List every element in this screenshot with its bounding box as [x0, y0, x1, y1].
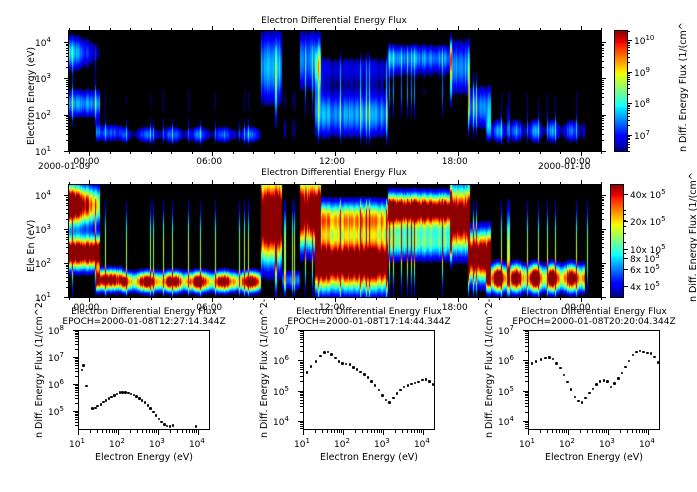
axis-tick [581, 297, 582, 302]
axis-tick [66, 234, 69, 235]
axis-tick [580, 430, 581, 433]
data-point [603, 379, 606, 382]
axis-tick [437, 151, 438, 154]
data-point [94, 407, 97, 410]
axis-tick [376, 151, 377, 154]
axis-tick [596, 430, 597, 433]
axis-tick [601, 97, 604, 98]
axis-tick [300, 331, 303, 332]
axis-tick [294, 151, 295, 154]
data-point [399, 389, 402, 392]
spectrum-3-ytick-label: 107 [498, 324, 514, 337]
mid-panel-title: Electron Differential Energy Flux [68, 168, 600, 178]
axis-tick [66, 268, 69, 269]
axis-tick [499, 297, 500, 300]
axis-tick [75, 363, 78, 364]
axis-tick [601, 86, 604, 87]
axis-tick [525, 351, 528, 352]
axis-tick [69, 28, 70, 31]
data-point [548, 356, 551, 359]
top-ytick-label: 102 [35, 109, 51, 122]
axis-tick [75, 414, 78, 415]
axis-tick [623, 214, 626, 215]
axis-tick [300, 395, 303, 396]
axis-tick [417, 182, 418, 185]
axis-tick [623, 286, 628, 287]
top-spectrogram-image [68, 30, 602, 152]
axis-tick [66, 67, 69, 68]
data-point [356, 368, 359, 371]
axis-tick [556, 430, 557, 433]
axis-tick [627, 57, 630, 58]
axis-tick [66, 93, 69, 94]
axis-tick [601, 56, 604, 57]
axis-tick [303, 430, 304, 435]
axis-tick [560, 182, 561, 185]
axis-tick [423, 430, 424, 435]
axis-tick [601, 237, 604, 238]
axis-tick [627, 105, 630, 106]
axis-tick [525, 335, 528, 336]
axis-tick [75, 361, 78, 362]
axis-tick [562, 430, 563, 433]
axis-tick [376, 297, 377, 300]
axis-tick [601, 213, 604, 214]
axis-tick [627, 106, 630, 107]
axis-tick [601, 123, 604, 124]
spectrum-1-ylabel: n Diff. Energy Flux (1/(cm^2- [34, 299, 45, 438]
axis-tick [75, 415, 78, 416]
axis-tick [75, 371, 78, 372]
data-point [617, 377, 620, 380]
axis-tick [75, 388, 78, 389]
axis-tick [419, 430, 420, 433]
spectrum-2-xlabel: Electron Energy (eV) [303, 452, 435, 463]
axis-tick [592, 430, 593, 433]
axis-tick [300, 392, 303, 393]
spectrum-3-xtick-label: 103 [599, 437, 615, 450]
spectrum-3-xtick-label: 101 [519, 437, 535, 450]
axis-tick [66, 116, 69, 117]
axis-tick [334, 430, 335, 433]
axis-tick [89, 151, 90, 156]
axis-tick [601, 297, 602, 300]
spectrum-1-xtick-label: 101 [69, 437, 85, 450]
axis-tick [396, 28, 397, 31]
axis-tick [300, 376, 303, 377]
axis-tick [402, 430, 403, 433]
axis-tick [75, 395, 78, 396]
axis-tick [331, 430, 332, 433]
axis-tick [75, 398, 78, 399]
axis-tick [69, 182, 70, 185]
axis-tick [66, 277, 69, 278]
axis-tick [66, 239, 69, 240]
axis-tick [66, 61, 69, 62]
axis-tick [355, 182, 356, 185]
axis-tick [192, 151, 193, 154]
axis-tick [130, 151, 131, 154]
axis-tick [233, 28, 234, 31]
axis-tick [627, 73, 630, 74]
axis-tick [414, 430, 415, 433]
axis-tick [66, 86, 69, 87]
axis-tick [395, 430, 396, 433]
axis-tick [383, 430, 384, 435]
axis-tick [75, 331, 78, 332]
axis-tick [75, 365, 78, 366]
data-point [147, 404, 150, 407]
axis-tick [66, 271, 69, 272]
data-point [306, 371, 309, 374]
axis-tick [355, 430, 356, 433]
spectrum-2-xtick-label: 101 [294, 437, 310, 450]
mid-colorbar-label: n Diff. Energy Flux (1/(cm^ [688, 172, 697, 302]
axis-tick [525, 369, 528, 370]
axis-tick [601, 61, 604, 62]
axis-tick [627, 43, 630, 44]
axis-tick [525, 394, 528, 395]
axis-tick [90, 430, 91, 433]
axis-tick [601, 45, 604, 46]
axis-tick [601, 48, 604, 49]
axis-tick [233, 151, 234, 154]
axis-tick [194, 430, 195, 433]
axis-tick [627, 79, 630, 80]
axis-tick [499, 151, 500, 154]
axis-tick [78, 430, 79, 435]
axis-tick [186, 430, 187, 433]
mid-ytick-label: 102 [35, 257, 51, 270]
spectrum-2-ytick-label: 105 [273, 385, 289, 398]
axis-tick [540, 151, 541, 154]
axis-tick [142, 430, 143, 433]
axis-tick [300, 406, 303, 407]
axis-tick [601, 118, 604, 119]
axis-tick [171, 28, 172, 31]
axis-tick [601, 268, 604, 269]
axis-tick [212, 151, 213, 156]
spectrum-3-ytick-label: 105 [498, 385, 514, 398]
axis-tick [66, 219, 69, 220]
axis-tick [525, 381, 528, 382]
axis-tick [233, 297, 234, 300]
axis-tick [568, 430, 569, 435]
data-point [544, 357, 547, 360]
axis-tick [66, 213, 69, 214]
axis-tick [300, 346, 303, 347]
axis-tick [525, 412, 528, 413]
data-point [584, 397, 587, 400]
axis-tick [300, 365, 303, 366]
axis-tick [587, 430, 588, 433]
spectrum-1-xtick-label: 104 [189, 437, 205, 450]
axis-tick [478, 151, 479, 154]
axis-tick [102, 430, 103, 433]
axis-tick [602, 430, 603, 433]
axis-tick [601, 271, 604, 272]
axis-tick [608, 430, 609, 435]
axis-tick [196, 430, 197, 433]
axis-tick [75, 368, 78, 369]
data-point [370, 380, 373, 383]
axis-tick [437, 297, 438, 300]
axis-tick [421, 430, 422, 433]
data-point [85, 385, 88, 388]
axis-tick [636, 430, 637, 433]
axis-tick [627, 88, 630, 89]
axis-tick [377, 430, 378, 433]
axis-tick [559, 430, 560, 433]
spectrum-1-xtick-label: 102 [109, 437, 125, 450]
axis-tick [623, 242, 626, 243]
axis-tick [540, 430, 541, 433]
axis-tick [376, 28, 377, 31]
axis-tick [601, 287, 604, 288]
axis-tick [627, 113, 630, 114]
axis-tick [627, 136, 630, 137]
axis-tick [75, 385, 78, 386]
mid-ytick-label: 103 [35, 223, 51, 236]
axis-tick [525, 331, 528, 332]
axis-tick [300, 367, 303, 368]
axis-tick [601, 219, 604, 220]
axis-tick [376, 182, 377, 185]
axis-tick [156, 430, 157, 433]
axis-tick [601, 126, 604, 127]
axis-tick [66, 247, 69, 248]
axis-tick [170, 430, 171, 433]
axis-tick [601, 281, 604, 282]
axis-tick [371, 430, 372, 433]
axis-tick [66, 82, 69, 83]
data-point [392, 397, 395, 400]
axis-tick [110, 297, 111, 300]
axis-tick [525, 376, 528, 377]
axis-tick [158, 430, 159, 435]
axis-tick [623, 220, 626, 221]
axis-tick [315, 151, 316, 154]
axis-tick [560, 151, 561, 154]
axis-tick [525, 333, 528, 334]
axis-tick [601, 247, 604, 248]
data-point [341, 362, 344, 365]
spectrum-1-ytick-label: 105 [48, 405, 64, 418]
axis-tick [566, 430, 567, 433]
data-point [428, 380, 431, 383]
axis-tick [604, 430, 605, 433]
axis-tick [627, 42, 630, 43]
axis-tick [362, 430, 363, 433]
axis-tick [300, 426, 303, 427]
mid-colorbar-tick-label: 40x 105 [630, 188, 666, 201]
axis-tick [478, 297, 479, 300]
axis-tick [627, 75, 630, 76]
axis-tick [114, 430, 115, 433]
axis-tick [417, 430, 418, 433]
axis-tick [478, 182, 479, 185]
axis-tick [69, 297, 70, 300]
axis-tick [89, 180, 90, 185]
axis-tick [623, 221, 628, 222]
axis-tick [75, 333, 78, 334]
axis-tick [118, 430, 119, 435]
axis-tick [601, 265, 604, 266]
axis-tick [525, 365, 528, 366]
axis-tick [627, 47, 630, 48]
axis-tick [601, 209, 604, 210]
axis-tick [437, 28, 438, 31]
axis-tick [110, 182, 111, 185]
axis-tick [525, 406, 528, 407]
top-panel-ylabel: Electron Energy (eV) [26, 47, 37, 145]
axis-tick [601, 50, 604, 51]
axis-tick [106, 430, 107, 433]
spectrum-3-ylabel: n Diff. Energy Flux (1/(cm^2- [484, 299, 495, 438]
axis-tick [601, 120, 604, 121]
axis-tick [112, 430, 113, 433]
axis-tick [396, 151, 397, 154]
axis-tick [623, 226, 626, 227]
spectrum-3-epoch: EPOCH=2000-01-08T20:20:04.344Z [460, 317, 697, 327]
axis-tick [601, 80, 604, 81]
axis-tick [525, 337, 528, 338]
top-colorbar-tick-label: 108 [634, 97, 650, 110]
axis-tick [620, 430, 621, 433]
data-point [149, 407, 152, 410]
axis-tick [253, 297, 254, 300]
axis-tick [601, 134, 604, 135]
axis-tick [627, 84, 630, 85]
axis-tick [335, 26, 336, 31]
axis-tick [601, 182, 602, 185]
axis-tick [300, 400, 303, 401]
axis-tick [525, 426, 528, 427]
axis-tick [66, 89, 69, 90]
axis-tick [623, 210, 626, 211]
spectrum-2-ylabel: n Diff. Energy Flux (1/(cm^2- [259, 299, 270, 438]
axis-tick [601, 104, 604, 105]
axis-tick [417, 28, 418, 31]
axis-tick [343, 430, 344, 435]
axis-tick [519, 151, 520, 154]
axis-tick [274, 297, 275, 300]
axis-tick [417, 297, 418, 300]
axis-tick [525, 395, 528, 396]
axis-tick [66, 140, 69, 141]
data-point [588, 392, 591, 395]
axis-tick [525, 400, 528, 401]
axis-tick [300, 335, 303, 336]
axis-tick [66, 48, 69, 49]
axis-tick [355, 151, 356, 154]
axis-tick [525, 372, 528, 373]
axis-tick [627, 62, 630, 63]
spectrum-3-xtick-label: 104 [639, 437, 655, 450]
axis-tick [66, 243, 69, 244]
axis-tick [601, 129, 604, 130]
axis-tick [212, 297, 213, 302]
axis-tick [66, 44, 69, 45]
axis-tick [66, 56, 69, 57]
axis-tick [274, 28, 275, 31]
axis-tick [66, 84, 69, 85]
data-point [172, 424, 175, 427]
axis-tick [627, 45, 630, 46]
data-point [82, 364, 85, 367]
spectrum-1-xtick-label: 103 [149, 437, 165, 450]
axis-tick [75, 338, 78, 339]
axis-tick [300, 339, 303, 340]
top-xtick-label: 18:00 [442, 157, 468, 167]
axis-tick [66, 50, 69, 51]
axis-tick [525, 339, 528, 340]
data-point [653, 356, 656, 359]
axis-tick [627, 147, 630, 148]
data-point [555, 362, 558, 365]
axis-tick [601, 199, 604, 200]
data-point [595, 383, 598, 386]
axis-tick [623, 269, 626, 270]
axis-tick [66, 197, 69, 198]
data-point [642, 351, 645, 354]
axis-tick [315, 182, 316, 185]
axis-tick [97, 430, 98, 433]
spectrum-1-ytick-label: 108 [48, 324, 64, 337]
axis-tick [627, 31, 630, 32]
axis-tick [66, 45, 69, 46]
axis-tick [315, 430, 316, 433]
axis-tick [627, 81, 630, 82]
axis-tick [519, 28, 520, 31]
axis-tick [75, 341, 78, 342]
axis-tick [601, 28, 602, 31]
axis-tick [599, 430, 600, 433]
axis-tick [601, 205, 604, 206]
axis-tick [75, 336, 78, 337]
mid-colorbar-tick-label: 4x 105 [630, 280, 660, 293]
axis-tick [458, 180, 459, 185]
axis-tick [116, 430, 117, 433]
axis-tick [212, 26, 213, 31]
top-xtick-label: 12:00 [319, 157, 345, 167]
spectrum-2-xtick-label: 104 [414, 437, 430, 450]
data-point [421, 379, 424, 382]
top-ytick-label: 104 [35, 36, 51, 49]
spectrum-2-plot-area [303, 330, 435, 430]
axis-tick [75, 344, 78, 345]
axis-tick [417, 151, 418, 154]
axis-tick [627, 430, 628, 433]
axis-tick [294, 28, 295, 31]
spectrum-3-ytick-label: 104 [498, 415, 514, 428]
axis-tick [437, 182, 438, 185]
axis-tick [75, 387, 78, 388]
axis-tick [171, 182, 172, 185]
axis-tick [300, 412, 303, 413]
axis-tick [632, 430, 633, 433]
axis-tick [69, 151, 70, 154]
axis-tick [623, 258, 628, 259]
axis-tick [300, 351, 303, 352]
spectrum-1-xlabel: Electron Energy (eV) [78, 452, 210, 463]
axis-tick [66, 253, 69, 254]
axis-tick [540, 297, 541, 300]
axis-tick [601, 273, 604, 274]
axis-tick [644, 430, 645, 433]
top-colorbar-tick-label: 107 [634, 129, 650, 142]
axis-tick [411, 430, 412, 433]
